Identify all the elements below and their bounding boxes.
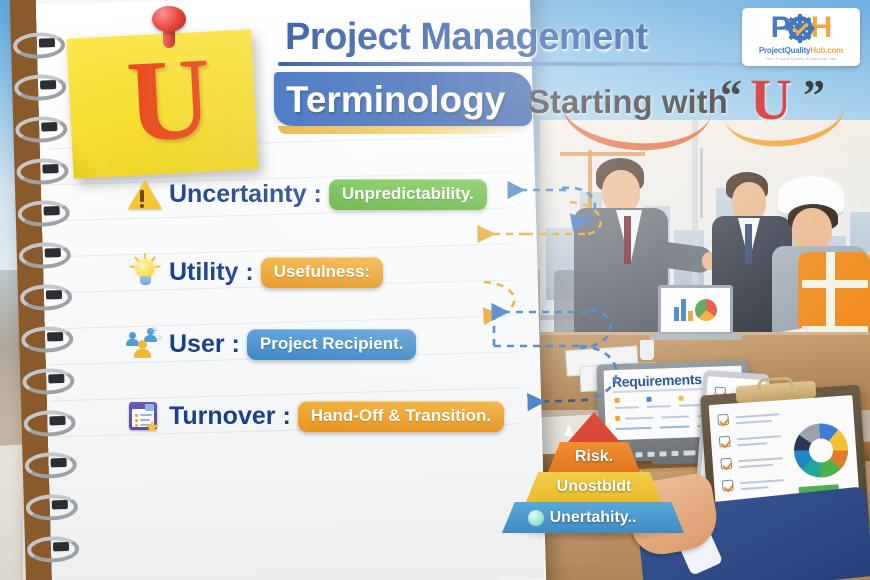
pie-chart-icon <box>695 299 717 321</box>
subtitle-starting-with: Starting with <box>528 83 728 121</box>
checklist-board-icon <box>126 398 162 434</box>
gear-check-icon <box>788 16 813 41</box>
pyramid-tier-risk: Risk. <box>548 442 640 472</box>
logo-subtitle-orange: Hub.com <box>810 46 843 55</box>
users-icon: ✧ ✧ <box>126 326 162 362</box>
infographic-canvas: Requirements <box>0 0 870 580</box>
term-row: Utility : Usefulness: <box>126 254 383 290</box>
logo-subtitle-blue: ProjectQuality <box>759 46 810 55</box>
logo-tagline: Your Project Quality Knowledge Hub <box>765 56 836 61</box>
warning-triangle-icon <box>126 176 162 212</box>
term-row: ✧ ✧ User : Project Recipient. <box>126 326 416 362</box>
term-row: Uncertainty : Unpredictability. <box>126 176 487 212</box>
term-row: Turnover : Hand-Off & Transition. <box>126 398 504 434</box>
lightbulb-icon <box>126 254 162 290</box>
risk-pyramid-diagram: ♟ Risk. Unostbldt Unertahity.. <box>500 412 685 534</box>
person-icon: ♟ <box>560 420 578 442</box>
term-label: User : <box>169 330 240 359</box>
brand-logo[interactable]: P H ProjectQualityHub.com Your Project Q… <box>742 8 860 66</box>
term-label: Turnover : <box>169 402 291 431</box>
donut-chart <box>792 422 850 480</box>
subtitle-terminology: Terminology <box>286 79 505 121</box>
term-label: Uncertainty : <box>169 180 322 209</box>
pyramid-tier-instability: Unostbldt <box>526 472 662 502</box>
term-definition-pill: Project Recipient. <box>247 329 417 360</box>
page-title: Project Management <box>285 16 648 59</box>
quote-open: “ <box>720 70 742 121</box>
term-definition-pill: Hand-Off & Transition. <box>298 401 504 432</box>
term-definition-pill: Usefulness: <box>261 257 383 288</box>
term-label: Utility : <box>169 258 254 287</box>
bubble-marker <box>528 510 544 526</box>
term-definition-pill: Unpredictability. <box>329 179 487 210</box>
pushpin-icon <box>152 6 186 52</box>
